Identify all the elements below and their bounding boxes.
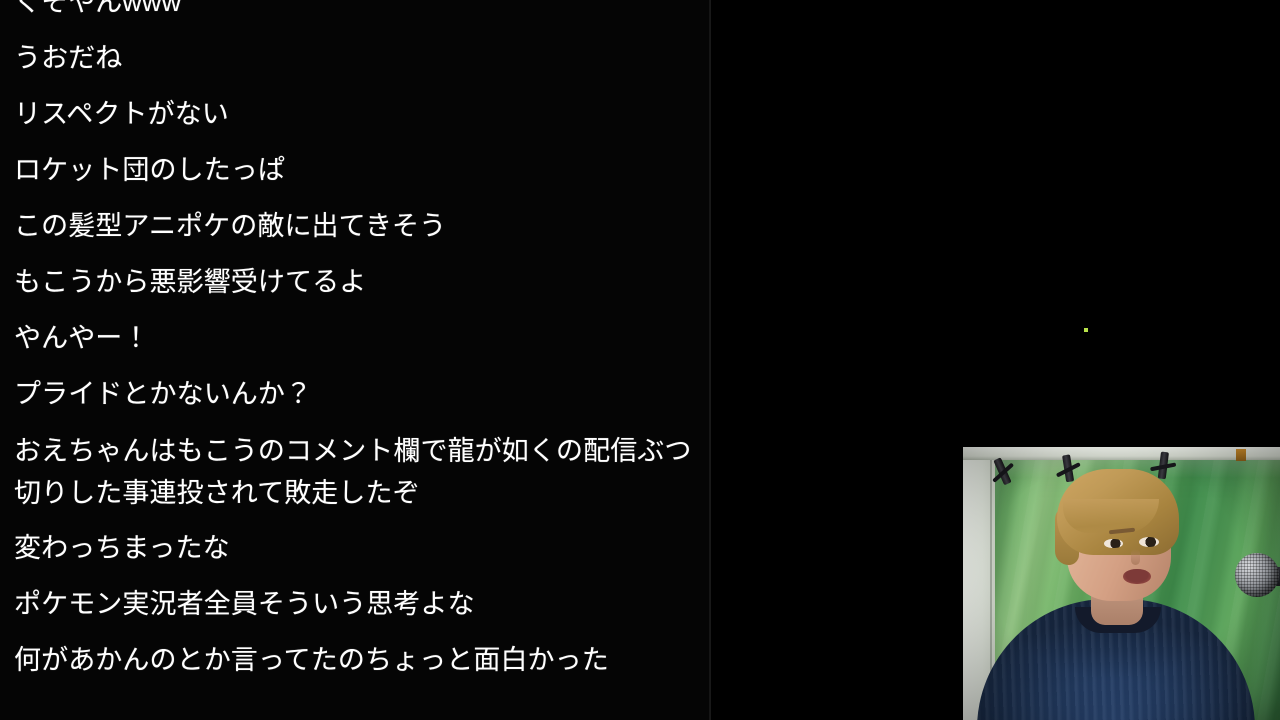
chat-message: もこうから悪影響受けてるよ	[0, 254, 711, 310]
vignette	[963, 447, 1280, 720]
chat-message: この髪型アニポケの敵に出てきそう	[0, 198, 711, 254]
chat-message: 変わっちまったな	[0, 520, 711, 576]
chat-message: ポケモン実況者全員そういう思考よな	[0, 576, 711, 632]
stream-canvas: くそやんwww うおだね リスペクトがない ロケット団のしたっぱ この髪型アニポ…	[0, 0, 1280, 720]
chat-message: 何があかんのとか言ってたのちょっと面白かった	[0, 632, 711, 688]
chat-message: おえちゃんはもこうのコメント欄で龍が如くの配信ぶつ切りした事連投されて敗走したぞ	[0, 422, 711, 520]
chat-message: ロケット団のしたっぱ	[0, 142, 711, 198]
chat-message: プライドとかないんか？	[0, 366, 711, 422]
chat-message: くそやんwww	[0, 0, 711, 30]
chat-message: リスペクトがない	[0, 86, 711, 142]
chat-message: やんやー！	[0, 310, 711, 366]
chat-message: うおだね	[0, 30, 711, 86]
chat-comment-panel[interactable]: くそやんwww うおだね リスペクトがない ロケット団のしたっぱ この髪型アニポ…	[0, 0, 711, 720]
webcam-inset[interactable]	[963, 447, 1280, 720]
chat-message-list: くそやんwww うおだね リスペクトがない ロケット団のしたっぱ この髪型アニポ…	[0, 0, 711, 688]
